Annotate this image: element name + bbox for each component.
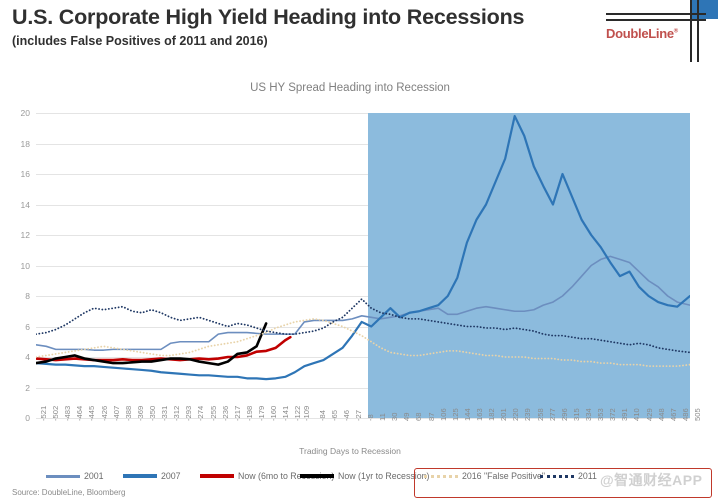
x-axis-tick-label: -312: [172, 406, 181, 421]
y-axis-tick-label: 14: [0, 200, 30, 210]
y-axis-tick-label: 2: [0, 383, 30, 393]
x-axis-tick-label: 68: [414, 413, 423, 421]
legend-swatch: [200, 474, 234, 478]
x-axis-tick-label: -331: [160, 406, 169, 421]
logo-blue-square: [692, 0, 718, 19]
logo-wordmark: DoubleLine®: [606, 26, 678, 41]
source-note: Source: DoubleLine, Bloomberg: [12, 488, 125, 497]
y-axis-tick-label: 12: [0, 230, 30, 240]
logo-rule-vertical-left: [690, 0, 692, 62]
logo-wordmark-text: DoubleLine: [606, 26, 674, 41]
x-axis-tick-label: 296: [560, 408, 569, 421]
legend-swatch: [123, 474, 157, 478]
x-axis-tick-label: -521: [39, 406, 48, 421]
x-axis-tick-label: -483: [63, 406, 72, 421]
x-axis-tick-label: -274: [196, 406, 205, 421]
y-axis-tick-label: 8: [0, 291, 30, 301]
x-axis-tick-label: 30: [390, 413, 399, 421]
legend-swatch: [46, 475, 80, 478]
x-axis-tick-label: -179: [257, 406, 266, 421]
x-axis-tick-label: -388: [124, 406, 133, 421]
legend-item[interactable]: 2001: [46, 466, 104, 486]
x-axis-tick-label: -293: [184, 406, 193, 421]
chart-series-svg: [36, 113, 690, 418]
x-axis-tick-label: 505: [693, 408, 702, 421]
x-axis-tick-label: -236: [221, 406, 230, 421]
page-title: U.S. Corporate High Yield Heading into R…: [12, 5, 524, 30]
x-axis-tick-label: -445: [87, 406, 96, 421]
y-axis-tick-label: 4: [0, 352, 30, 362]
series-line: [36, 116, 690, 379]
x-axis-tick-label: -141: [281, 406, 290, 421]
x-axis-label: Trading Days to Recession: [0, 446, 700, 456]
x-axis-tick-label: -217: [233, 406, 242, 421]
legend-item-label: 2001: [84, 471, 104, 481]
x-axis-tick-label: 467: [669, 408, 678, 421]
x-axis-tick-label: -65: [330, 410, 339, 421]
x-axis-tick-label: 49: [402, 413, 411, 421]
y-axis-tick-label: 18: [0, 139, 30, 149]
x-axis-tick-label: -369: [136, 406, 145, 421]
x-axis-tick-label: -255: [209, 406, 218, 421]
y-axis-tick-label: 6: [0, 322, 30, 332]
legend-item-label: 2007: [161, 471, 181, 481]
x-axis-tick-label: 201: [499, 408, 508, 421]
x-axis-tick-label: 258: [536, 408, 545, 421]
x-axis-tick-label: 220: [511, 408, 520, 421]
x-axis-tick-label: 391: [620, 408, 629, 421]
x-axis-tick-label: 448: [657, 408, 666, 421]
x-axis-tick-label: -46: [342, 410, 351, 421]
y-axis-tick-label: 10: [0, 261, 30, 271]
x-axis-tick-label: 182: [487, 408, 496, 421]
x-axis-tick-label: -350: [148, 406, 157, 421]
x-axis-tick-label: 353: [596, 408, 605, 421]
chart-title: US HY Spread Heading into Recession: [0, 82, 700, 94]
legend-swatch: [300, 474, 334, 478]
x-axis-tick-label: -160: [269, 406, 278, 421]
x-axis-tick-label: 106: [439, 408, 448, 421]
x-axis-tick-label: -109: [302, 406, 311, 421]
x-axis-tick-label: 87: [427, 413, 436, 421]
legend-item[interactable]: 2007: [123, 466, 181, 486]
x-axis-tick-label: 144: [463, 408, 472, 421]
x-axis-tick-label: 11: [378, 413, 387, 421]
page-subtitle: (includes False Positives of 2011 and 20…: [12, 34, 268, 48]
x-axis-tick-label: 163: [475, 408, 484, 421]
x-axis-tick-label: -84: [318, 410, 327, 421]
x-axis-tick-label: -8: [366, 414, 375, 421]
x-axis-tick-label: 410: [632, 408, 641, 421]
logo-rule-vertical-right: [697, 0, 699, 62]
x-axis-tick-label: -464: [75, 406, 84, 421]
x-axis-tick-label: 277: [548, 408, 557, 421]
legend-item[interactable]: Now (1yr to Recession): [300, 466, 429, 486]
x-axis-tick-label: 429: [645, 408, 654, 421]
y-axis-tick-label: 0: [0, 413, 30, 423]
x-axis-tick-label: 334: [584, 408, 593, 421]
x-axis-tick-label: -407: [112, 406, 121, 421]
doubleline-logo: DoubleLine®: [598, 0, 718, 62]
chart-plot-area: [36, 113, 690, 418]
x-axis-tick-label: 372: [608, 408, 617, 421]
series-line: [36, 299, 690, 352]
logo-registered-mark: ®: [674, 29, 678, 35]
x-axis-tick-label: 486: [681, 408, 690, 421]
x-axis-tick-label: 315: [572, 408, 581, 421]
x-axis-tick-label: -122: [293, 406, 302, 421]
x-axis-tick-label: -426: [100, 406, 109, 421]
y-axis-tick-label: 20: [0, 108, 30, 118]
x-axis-tick-label: 239: [523, 408, 532, 421]
x-axis-tick-label: -502: [51, 406, 60, 421]
y-axis-tick-label: 16: [0, 169, 30, 179]
report-header: U.S. Corporate High Yield Heading into R…: [0, 0, 718, 66]
x-axis-tick-label: -27: [354, 410, 363, 421]
watermark: @智通财经APP: [600, 470, 702, 490]
x-axis-tick-label: 125: [451, 408, 460, 421]
x-axis-tick-label: -198: [245, 406, 254, 421]
